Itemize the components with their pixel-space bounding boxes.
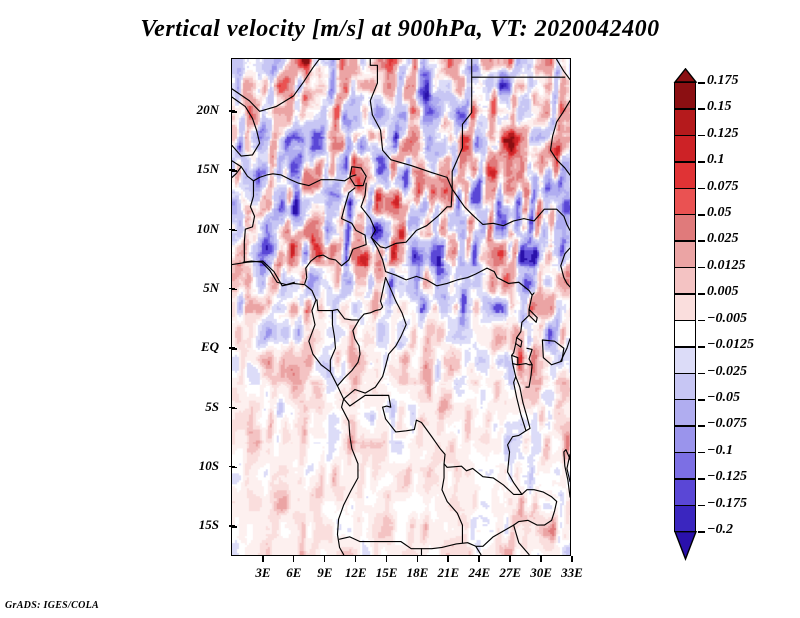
y-tick-inner-mark xyxy=(231,170,237,172)
country-borders-overlay xyxy=(232,59,570,555)
x-tick-label: 24E xyxy=(468,565,490,581)
x-tick-mark xyxy=(293,556,295,562)
colorbar-label: −0.0125 xyxy=(707,337,754,353)
border-path-38 xyxy=(526,365,532,387)
border-path-11 xyxy=(529,309,537,322)
colorbar-tick xyxy=(698,293,705,295)
colorbar-separator xyxy=(674,425,696,426)
border-path-48 xyxy=(514,525,529,554)
x-tick-label: 3E xyxy=(255,565,270,581)
y-tick-label: EQ xyxy=(201,339,219,355)
x-tick-mark xyxy=(447,556,449,562)
border-path-36 xyxy=(513,364,516,377)
border-path-35 xyxy=(512,344,516,356)
x-tick-mark xyxy=(478,556,480,562)
border-path-40 xyxy=(344,278,407,399)
colorbar-column: 0.1750.150.1250.10.0750.050.0250.01250.0… xyxy=(673,62,698,554)
border-path-33 xyxy=(529,295,532,309)
colorbar-separator xyxy=(674,452,696,453)
border-path-26 xyxy=(352,175,356,176)
border-path-31 xyxy=(561,248,570,287)
colorbar-label: 0.0125 xyxy=(707,258,746,274)
colorbar-band-2 xyxy=(674,135,696,161)
colorbar-label: −0.075 xyxy=(707,416,747,432)
x-tick-label: 18E xyxy=(407,565,429,581)
colorbar-separator xyxy=(674,214,696,215)
colorbar-tick xyxy=(698,267,705,269)
colorbar-band-12 xyxy=(674,399,696,425)
border-path-43 xyxy=(330,311,335,372)
border-path-28 xyxy=(361,183,452,248)
border-path-6 xyxy=(551,101,570,175)
y-tick-inner-mark xyxy=(231,408,237,410)
border-path-5 xyxy=(557,59,570,79)
colorbar-band-11 xyxy=(674,373,696,399)
colorbar-separator xyxy=(674,135,696,136)
colorbar-label: −0.05 xyxy=(707,390,740,406)
y-tick-inner-mark xyxy=(231,289,237,291)
border-path-44 xyxy=(340,490,557,549)
colorbar-label: 0.025 xyxy=(707,231,739,247)
colorbar-tick xyxy=(698,214,705,216)
y-tick-label: 20N xyxy=(197,102,219,118)
colorbar-tick xyxy=(698,240,705,242)
colorbar-tick xyxy=(698,425,705,427)
colorbar-separator xyxy=(674,346,696,347)
colorbar-label: −0.025 xyxy=(707,364,747,380)
colorbar-separator xyxy=(674,267,696,268)
border-path-34 xyxy=(517,315,529,337)
border-path-18 xyxy=(372,115,452,189)
border-path-17 xyxy=(370,59,377,114)
colorbar-separator xyxy=(674,320,696,321)
colorbar-band-15 xyxy=(674,478,696,504)
colorbar-tick xyxy=(698,346,705,348)
colorbar-band-7 xyxy=(674,267,696,293)
y-tick-label: 15S xyxy=(199,517,219,533)
border-path-41 xyxy=(337,278,385,386)
colorbar-tick xyxy=(698,505,705,507)
y-tick-inner-mark xyxy=(231,111,237,113)
colorbar-tick xyxy=(698,399,705,401)
colorbar-separator xyxy=(674,240,696,241)
border-path-24 xyxy=(244,196,254,261)
colorbar-label: 0.15 xyxy=(707,99,732,115)
colorbar-separator xyxy=(674,188,696,189)
border-path-32 xyxy=(497,278,534,296)
page-title: Vertical velocity [m/s] at 900hPa, VT: 2… xyxy=(0,16,800,43)
x-tick-mark xyxy=(540,556,542,562)
y-tick-inner-mark xyxy=(231,230,237,232)
x-tick-mark xyxy=(355,556,357,562)
colorbar-separator xyxy=(674,161,696,162)
colorbar-separator xyxy=(674,108,696,109)
border-path-15 xyxy=(232,59,319,111)
y-tick-inner-mark xyxy=(231,526,237,528)
colorbar-label: 0.075 xyxy=(707,179,739,195)
border-path-29 xyxy=(371,237,497,285)
border-path-0 xyxy=(232,261,358,554)
border-path-12 xyxy=(516,338,522,347)
x-tick-label: 12E xyxy=(345,565,367,581)
x-tick-mark xyxy=(324,556,326,562)
x-tick-label: 6E xyxy=(286,565,301,581)
colorbar-band-3 xyxy=(674,161,696,187)
y-tick-label: 10S xyxy=(199,458,219,474)
border-path-45 xyxy=(442,464,462,543)
colorbar-separator xyxy=(674,399,696,400)
colorbar-label: 0.005 xyxy=(707,284,739,300)
x-tick-mark xyxy=(386,556,388,562)
x-tick-mark xyxy=(262,556,264,562)
x-tick-mark xyxy=(509,556,511,562)
colorbar-tick xyxy=(698,373,705,375)
colorbar-tick xyxy=(698,108,705,110)
colorbar-band-9 xyxy=(674,320,696,346)
colorbar-separator xyxy=(674,373,696,374)
colorbar-label: −0.005 xyxy=(707,311,747,327)
border-path-1 xyxy=(243,261,294,285)
x-tick-mark xyxy=(571,556,573,562)
colorbar-band-16 xyxy=(674,505,696,531)
x-tick-label: 33E xyxy=(561,565,583,581)
colorbar-label: 0.05 xyxy=(707,205,732,221)
border-path-8 xyxy=(542,340,563,365)
colorbar-tick xyxy=(698,452,705,454)
colorbar-band-5 xyxy=(674,214,696,240)
border-path-47 xyxy=(476,546,481,554)
colorbar-separator xyxy=(674,82,696,83)
colorbar-tick xyxy=(698,531,705,533)
border-path-19 xyxy=(472,59,565,77)
colorbar-band-8 xyxy=(674,293,696,319)
colorbar-band-13 xyxy=(674,425,696,451)
colorbar-separator xyxy=(674,293,696,294)
y-tick-inner-mark xyxy=(231,467,237,469)
colorbar-tick xyxy=(698,161,705,163)
grads-credit: GrADS: IGES/COLA xyxy=(5,600,99,611)
colorbar-band-0 xyxy=(674,82,696,108)
y-tick-label: 10N xyxy=(197,221,219,237)
colorbar-label: −0.125 xyxy=(707,469,747,485)
x-tick-label: 21E xyxy=(438,565,460,581)
border-path-9 xyxy=(514,377,530,431)
y-tick-inner-mark xyxy=(231,348,237,350)
plot-frame xyxy=(231,58,571,556)
border-path-27 xyxy=(305,188,366,284)
border-path-21 xyxy=(232,97,260,156)
border-path-30 xyxy=(452,189,570,230)
x-tick-label: 27E xyxy=(499,565,521,581)
x-tick-label: 30E xyxy=(530,565,552,581)
colorbar-separator xyxy=(674,505,696,506)
border-path-20 xyxy=(452,77,471,189)
colorbar-label: 0.125 xyxy=(707,126,739,142)
border-path-22 xyxy=(232,161,352,186)
y-tick-label: 5S xyxy=(205,399,219,415)
colorbar: 0.1750.150.1250.10.0750.050.0250.01250.0… xyxy=(670,62,798,554)
colorbar-tick xyxy=(698,478,705,480)
colorbar-band-4 xyxy=(674,188,696,214)
colorbar-band-1 xyxy=(674,108,696,134)
x-tick-mark xyxy=(417,556,419,562)
colorbar-band-10 xyxy=(674,346,696,372)
colorbar-label: −0.1 xyxy=(707,443,733,459)
colorbar-tick xyxy=(698,135,705,137)
colorbar-label: −0.175 xyxy=(707,496,747,512)
colorbar-tick xyxy=(698,188,705,190)
colorbar-label: −0.2 xyxy=(707,522,733,538)
colorbar-tick xyxy=(698,82,705,84)
border-path-39 xyxy=(344,395,526,494)
colorbar-band-6 xyxy=(674,240,696,266)
colorbar-separator xyxy=(674,478,696,479)
colorbar-label: 0.175 xyxy=(707,73,739,89)
y-tick-label: 5N xyxy=(203,280,219,296)
border-path-37 xyxy=(518,348,532,365)
border-path-42 xyxy=(317,300,359,320)
colorbar-label: 0.1 xyxy=(707,152,725,168)
map-plot-area xyxy=(231,58,571,556)
colorbar-tick xyxy=(698,320,705,322)
x-tick-label: 15E xyxy=(376,565,398,581)
x-tick-label: 9E xyxy=(317,565,332,581)
colorbar-band-14 xyxy=(674,452,696,478)
y-tick-label: 15N xyxy=(197,161,219,177)
